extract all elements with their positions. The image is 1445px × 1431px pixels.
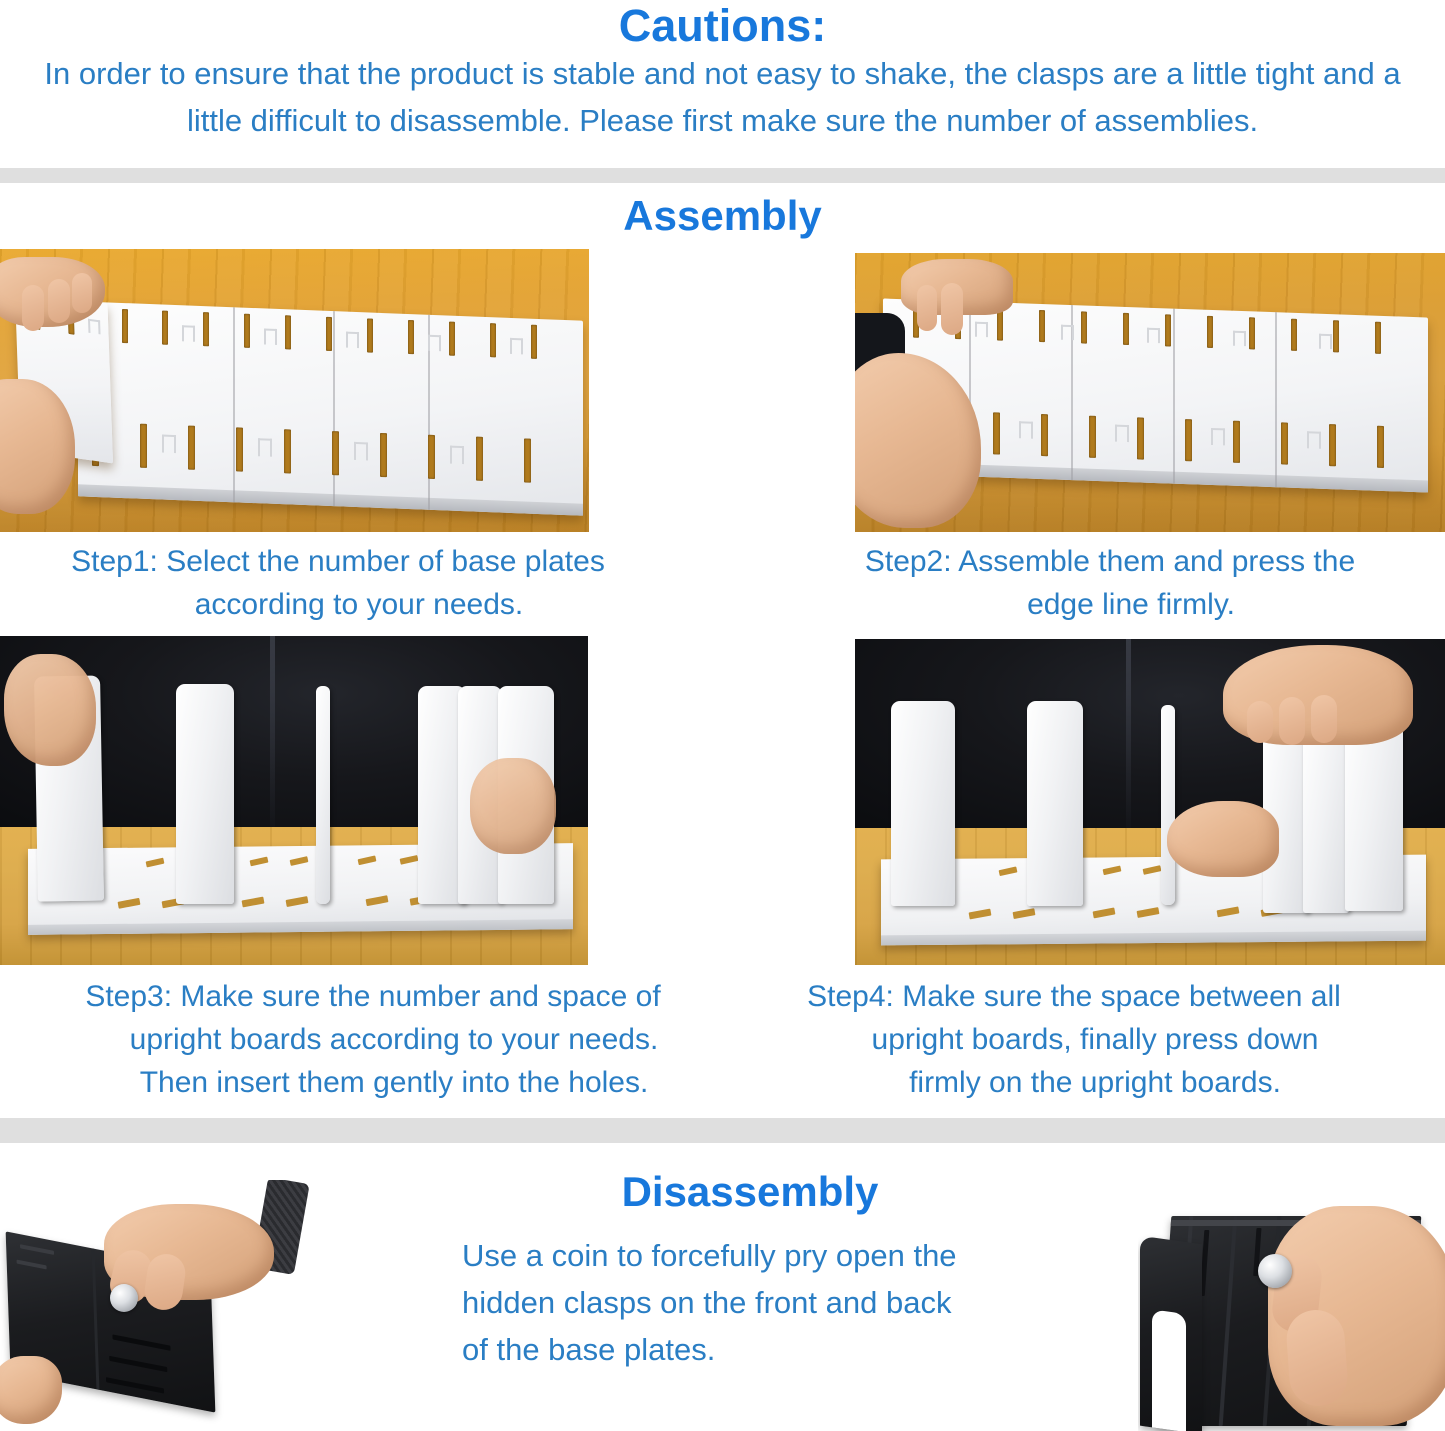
finger xyxy=(48,279,70,323)
instruction-infographic: Cautions: In order to ensure that the pr… xyxy=(0,0,1445,1431)
assembly-title: Assembly xyxy=(0,192,1445,240)
cautions-body-text: In order to ensure that the product is s… xyxy=(18,50,1427,144)
step4-caption-line3: firmly on the upright boards. xyxy=(705,1061,1443,1104)
coin xyxy=(110,1284,138,1312)
step3-caption-line3: Then insert them gently into the holes. xyxy=(8,1061,738,1104)
step4-caption: Step4: Make sure the space between all u… xyxy=(705,975,1443,1104)
step1-caption-line2: according to your needs. xyxy=(8,583,668,626)
step2-caption-line2: edge line firmly. xyxy=(780,583,1440,626)
section-divider-middle xyxy=(0,1118,1445,1143)
step4-caption-line2: upright boards, finally press down xyxy=(705,1018,1443,1061)
hand-supporting xyxy=(1167,801,1279,877)
section-divider-top xyxy=(0,168,1445,183)
base-plate-assembled xyxy=(78,301,583,515)
disassembly-body-text: Use a coin to forcefully pry open the hi… xyxy=(462,1232,1052,1373)
finger xyxy=(22,285,44,331)
upright-board xyxy=(1303,729,1349,913)
finger xyxy=(1279,697,1305,745)
upright-board xyxy=(1027,701,1083,906)
step2-photo xyxy=(855,253,1445,532)
step1-caption: Step1: Select the number of base plates … xyxy=(8,540,668,626)
step1-caption-line1: Step1: Select the number of base plates xyxy=(8,540,668,583)
finger xyxy=(917,285,937,331)
step3-photo xyxy=(0,636,588,965)
hand-inserting-board xyxy=(4,654,96,766)
plate-seam xyxy=(1275,312,1277,487)
step3-caption: Step3: Make sure the number and space of… xyxy=(8,975,738,1104)
step3-caption-line1: Step3: Make sure the number and space of xyxy=(8,975,738,1018)
disassembly-line3: of the base plates. xyxy=(462,1326,1052,1373)
step4-photo xyxy=(855,639,1445,965)
hand-supporting-plate xyxy=(0,1356,62,1424)
plate-seam xyxy=(233,307,235,502)
step4-caption-line1: Step4: Make sure the space between all xyxy=(705,975,1443,1018)
disassembly-line2: hidden clasps on the front and back xyxy=(462,1279,1052,1326)
plate-seam xyxy=(1173,309,1175,484)
finger xyxy=(72,273,92,313)
disassembly-photo-right xyxy=(1138,1182,1445,1431)
upright-board xyxy=(891,701,955,906)
upright-board xyxy=(316,686,330,904)
hand-background xyxy=(470,758,556,854)
black-side-panel xyxy=(1140,1236,1202,1431)
finger xyxy=(1311,695,1337,743)
upright-board xyxy=(176,684,234,904)
step2-caption-line1: Step2: Assemble them and press the xyxy=(780,540,1440,583)
finger xyxy=(1247,701,1273,743)
index-finger xyxy=(1285,1308,1350,1408)
disassembly-line1: Use a coin to forcefully pry open the xyxy=(462,1232,1052,1279)
upright-board xyxy=(1161,705,1175,905)
cautions-title: Cautions: xyxy=(0,0,1445,52)
coin xyxy=(1258,1254,1292,1288)
disassembly-title: Disassembly xyxy=(430,1168,1070,1216)
plate-seam xyxy=(333,311,335,506)
step2-caption: Step2: Assemble them and press the edge … xyxy=(780,540,1440,626)
disassembly-photo-left xyxy=(0,1180,352,1431)
step1-photo xyxy=(0,249,589,532)
finger xyxy=(941,283,963,335)
step3-caption-line2: upright boards according to your needs. xyxy=(8,1018,738,1061)
